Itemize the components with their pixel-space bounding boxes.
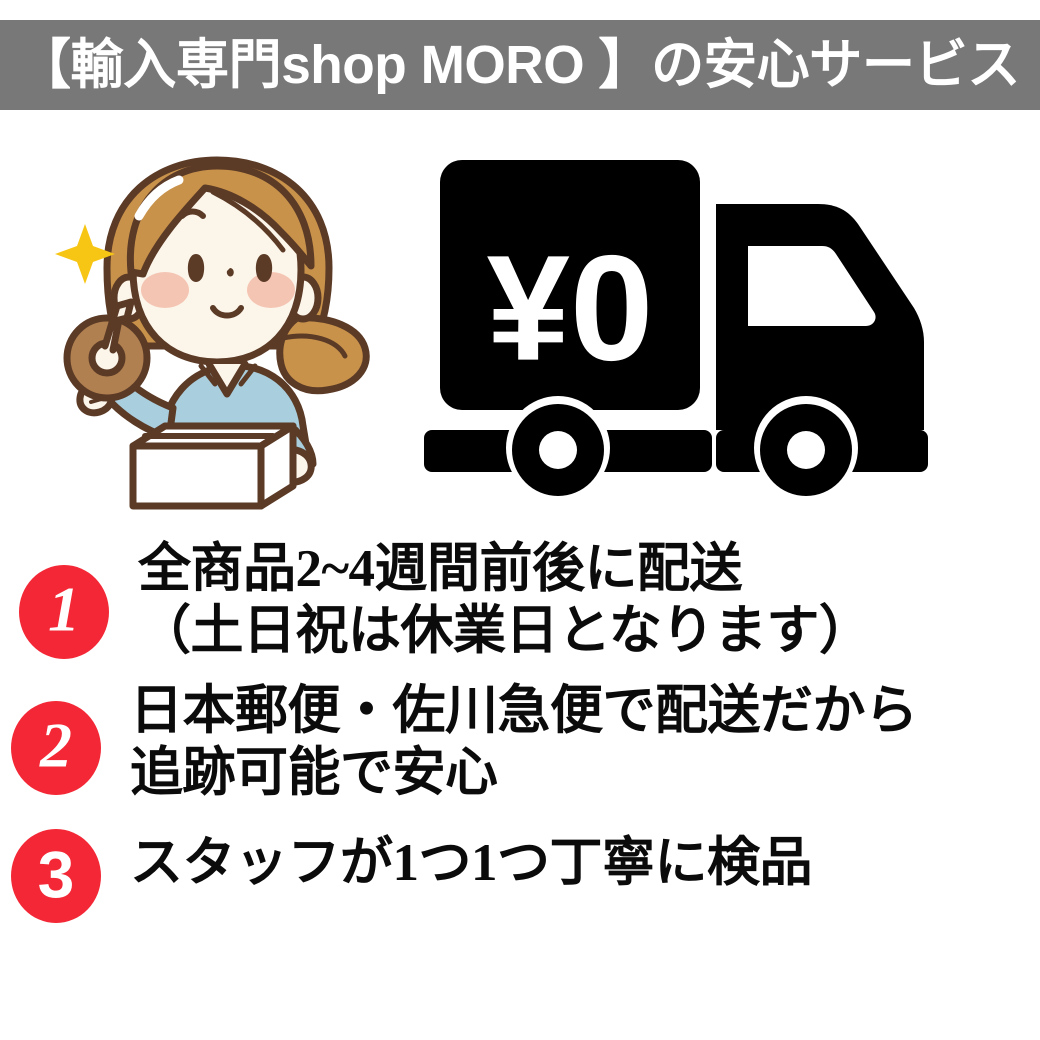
blush-right	[247, 272, 295, 308]
eye-right	[256, 254, 272, 282]
page-title: 【輸入専門shop MORO 】の安心サービス	[0, 38, 1020, 92]
promo-banner-page: 【輸入専門shop MORO 】の安心サービス	[0, 0, 1040, 1040]
badge-number: 3	[38, 837, 75, 911]
number-badge-3: 3	[8, 828, 104, 924]
service-item-3-text: スタッフが1つ1つ丁寧に検品	[130, 832, 1040, 894]
box-front	[133, 446, 261, 506]
eye-left	[188, 254, 204, 282]
wheel-front-hub	[539, 431, 577, 469]
service-item-2-text: 日本郵便・佐川急便で配送だから 追跡可能で安心	[130, 680, 1040, 804]
service-list: 1 全商品2~4週間前後に配送 （土日祝は休業日となります） 2 日本郵便・佐川…	[0, 538, 1040, 924]
service-item-2: 2 日本郵便・佐川急便で配送だから 追跡可能で安心	[8, 680, 1040, 804]
free-shipping-label: ¥0	[487, 224, 654, 392]
badge-number: 2	[39, 710, 72, 781]
number-badge-2: 2	[8, 700, 104, 796]
delivery-truck-illustration: ¥0	[418, 148, 1008, 508]
service-item-1-text: 全商品2~4週間前後に配送 （土日祝は休業日となります）	[138, 538, 1040, 662]
header-banner: 【輸入専門shop MORO 】の安心サービス	[0, 20, 1040, 110]
wheel-rear-hub	[787, 431, 825, 469]
service-item-3: 3 スタッフが1つ1つ丁寧に検品	[8, 818, 1040, 924]
badge-number: 1	[48, 574, 80, 645]
ponytail	[280, 318, 366, 391]
delivery-truck-icon: ¥0	[418, 148, 1008, 508]
number-badge-1: 1	[16, 564, 112, 660]
woman-packing-box-svg	[45, 150, 390, 510]
blush-left	[141, 272, 189, 308]
woman-packing-box-illustration	[45, 150, 390, 510]
service-item-1: 1 全商品2~4週間前後に配送 （土日祝は休業日となります）	[16, 538, 1040, 662]
illustration-band: ¥0	[0, 120, 1040, 530]
